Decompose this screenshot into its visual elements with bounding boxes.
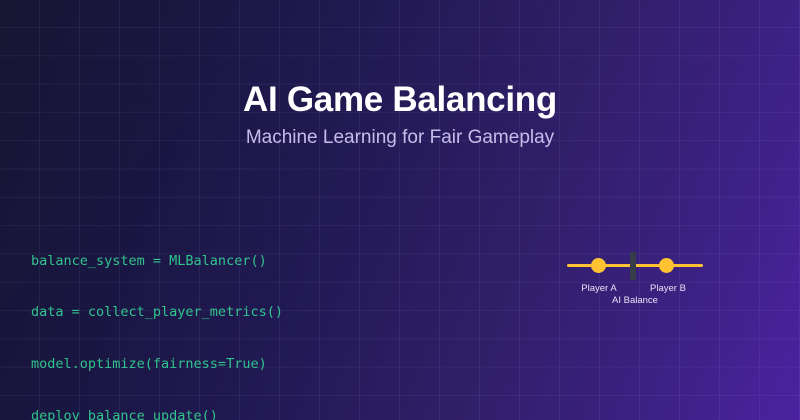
balance-scale-diagram: Player A Player B AI Balance xyxy=(560,246,710,308)
code-line: model.optimize(fairness=True) xyxy=(31,356,307,373)
code-line: data = collect_player_metrics() xyxy=(31,304,307,321)
balance-fulcrum-icon xyxy=(630,252,636,280)
page-title: AI Game Balancing xyxy=(0,82,800,119)
balance-weight-right-icon xyxy=(659,258,674,273)
page-subtitle: Machine Learning for Fair Gameplay xyxy=(0,128,800,149)
balance-label-player-b: Player B xyxy=(633,283,703,294)
slide-header: AI Game Balancing Machine Learning for F… xyxy=(0,82,800,149)
slide-canvas: AI Game Balancing Machine Learning for F… xyxy=(0,0,800,420)
code-line: deploy_balance_update() xyxy=(31,408,307,420)
balance-caption: AI Balance xyxy=(560,295,710,306)
code-block: balance_system = MLBalancer() data = col… xyxy=(31,218,307,420)
balance-weight-left-icon xyxy=(591,258,606,273)
balance-label-player-a: Player A xyxy=(564,283,634,294)
code-line: balance_system = MLBalancer() xyxy=(31,253,307,270)
